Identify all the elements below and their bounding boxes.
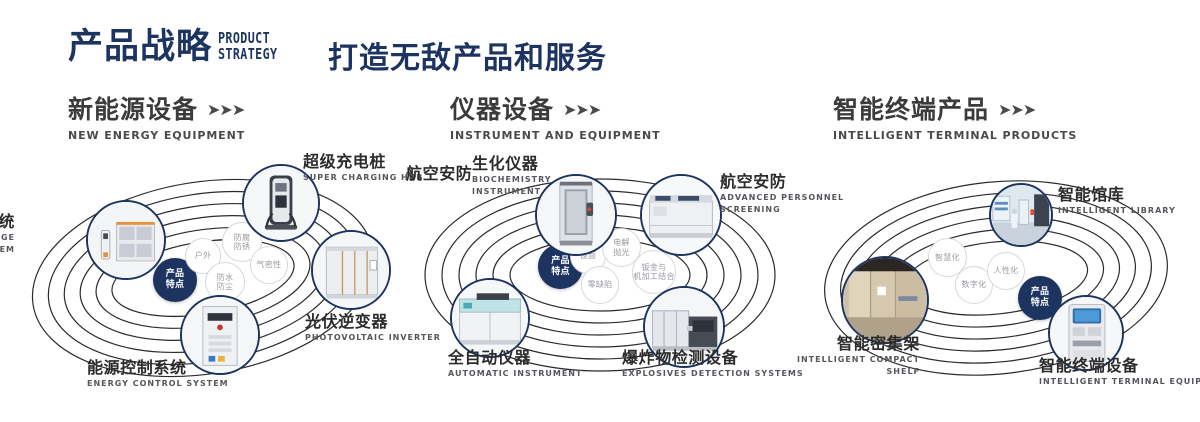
- cluster-instrument: 产品特点 镜面 电解抛光 零缺陷 钣金与机加工结合: [400, 150, 800, 400]
- chevron-right-icon: ➤➤➤: [563, 96, 600, 124]
- section-title-en: NEW ENERGY EQUIPMENT: [68, 129, 245, 142]
- label-intelligent-compact-shelf: 智能密集架 INTELLIGENT COMPACT SHELF: [776, 334, 920, 377]
- label-energy-control-system: 能源控制系统 ENERGY CONTROL SYSTEM: [87, 358, 229, 389]
- label-intelligent-terminal-equipment: 智能终端设备 INTELLIGENT TERMINAL EQUIPMENT: [1039, 356, 1200, 387]
- photovoltaic-inverter-photo[interactable]: [311, 230, 391, 310]
- section-heading-instrument: 仪器设备➤➤➤ INSTRUMENT AND EQUIPMENT: [450, 96, 661, 142]
- inverter-cabinet-icon: [313, 232, 389, 308]
- core-bubble-line2: 特点: [1031, 298, 1050, 308]
- library-room-photo-icon: [991, 185, 1051, 245]
- core-bubble-line1: 产品: [1031, 287, 1050, 297]
- cluster-new-energy: 产品特点 户外 防腐防锈 防水防尘 气密性: [5, 150, 405, 400]
- label-energy-storage-system: 储能系统 ENERGY STORAGE SYSTEM: [0, 212, 15, 255]
- battery-cabinet-icon: [88, 202, 164, 278]
- label-automatic-instrument: 全自动仪器 AUTOMATIC INSTRUMENT: [448, 348, 582, 379]
- poster-header: 产品战略 PRODUCT STRATEGY 打造无敌产品和服务: [0, 0, 1200, 90]
- automatic-analyzer-icon: [452, 280, 528, 356]
- label-aviation-security: 航空安防: [406, 164, 472, 183]
- page-title-english-line1: PRODUCT: [218, 30, 277, 46]
- section-title-cn-text: 新能源设备: [68, 95, 198, 124]
- label-biochemistry-instrument: 生化仪器 BIOCHEMISTRY INSTRUMENT: [472, 154, 552, 197]
- section-title-cn: 仪器设备➤➤➤: [450, 96, 661, 124]
- section-title-en: INSTRUMENT AND EQUIPMENT: [450, 129, 661, 142]
- intelligent-library-photo[interactable]: [989, 183, 1053, 247]
- core-bubble-line2: 特点: [551, 267, 570, 277]
- energy-storage-system-photo[interactable]: [86, 200, 166, 280]
- section-title-cn-text: 仪器设备: [450, 95, 554, 124]
- section-title-cn: 新能源设备➤➤➤: [68, 96, 245, 124]
- core-bubble-line2: 特点: [166, 280, 185, 290]
- chevron-right-icon: ➤➤➤: [207, 96, 244, 124]
- page-title-english: PRODUCT STRATEGY: [218, 30, 277, 62]
- label-intelligent-library: 智能馆库 INTELLIGENT LIBRARY: [1058, 185, 1176, 216]
- section-heading-intelligent-terminal: 智能终端产品➤➤➤ INTELLIGENT TERMINAL PRODUCTS: [833, 96, 1077, 142]
- core-bubble-line1: 产品: [551, 256, 570, 266]
- advanced-personnel-screening-photo[interactable]: [640, 174, 722, 256]
- chevron-right-icon: ➤➤➤: [998, 96, 1035, 124]
- page-subtitle: 打造无敌产品和服务: [328, 33, 607, 77]
- compact-shelf-photo-icon: [843, 258, 927, 342]
- core-bubble-line1: 产品: [166, 269, 185, 279]
- section-title-cn: 智能终端产品➤➤➤: [833, 96, 1077, 124]
- section-heading-new-energy: 新能源设备➤➤➤ NEW ENERGY EQUIPMENT: [68, 96, 245, 142]
- screening-machine-icon: [642, 176, 720, 254]
- automatic-instrument-photo[interactable]: [450, 278, 530, 358]
- section-title-en: INTELLIGENT TERMINAL PRODUCTS: [833, 129, 1077, 142]
- page-title: 产品战略: [68, 26, 212, 68]
- intelligent-compact-shelf-photo[interactable]: [841, 256, 929, 344]
- feature-bubble: 人性化: [987, 252, 1025, 290]
- poster-canvas: 产品战略 PRODUCT STRATEGY 打造无敌产品和服务 新能源设备➤➤➤…: [0, 0, 1200, 422]
- page-title-english-line2: STRATEGY: [218, 46, 277, 62]
- feature-bubble: 零缺陷: [581, 266, 619, 304]
- feature-bubble: 气密性: [250, 246, 288, 284]
- cluster-intelligent-terminal: 智慧化 数字化 人性化 产品特点: [800, 150, 1200, 400]
- section-title-cn-text: 智能终端产品: [833, 95, 989, 124]
